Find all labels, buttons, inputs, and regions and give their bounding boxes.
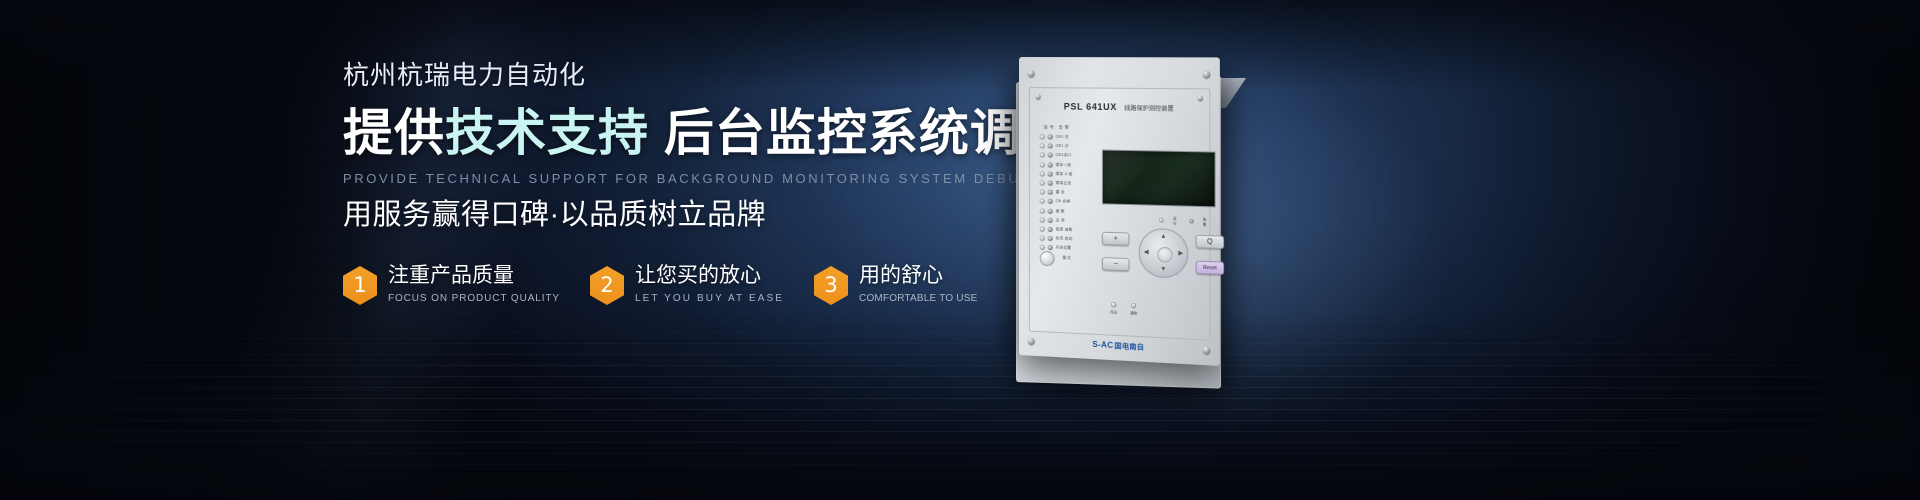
- alarm-led: [1048, 236, 1053, 241]
- arrow-left-icon[interactable]: ◀: [1144, 249, 1149, 255]
- brand-mark: S-AC: [1092, 340, 1113, 350]
- led-label: 失灵 启动: [1056, 236, 1073, 242]
- panel-screw-top-left: [1028, 70, 1035, 77]
- feature-title-2: 让您买的放心: [635, 265, 784, 286]
- direction-pad[interactable]: ▲ ▼ ◀ ▶: [1139, 228, 1189, 279]
- feature-text-1: 注重产品质量 FOCUS ON PRODUCT QUALITY: [388, 264, 560, 304]
- status-led: [1040, 153, 1045, 158]
- company-name: 杭州杭瑞电力自动化: [343, 62, 983, 88]
- feature-subtitle-1: FOCUS ON PRODUCT QUALITY: [388, 294, 560, 304]
- lcd-screen: [1102, 150, 1216, 208]
- feature-text-3: 用的舒心 COMFORTABLE TO USE: [859, 264, 977, 304]
- led-label: CB 合闸: [1056, 199, 1071, 204]
- headline-english-subtitle: PROVIDE TECHNICAL SUPPORT FOR BACKGROUND…: [343, 172, 983, 185]
- feature-list: 1 注重产品质量 FOCUS ON PRODUCT QUALITY 2 让您买的…: [343, 264, 983, 305]
- minus-key[interactable]: −: [1102, 257, 1130, 271]
- led-label: 开关位置: [1056, 246, 1072, 252]
- alarm-led: [1048, 153, 1053, 158]
- led-column-header: 信号 告警: [1044, 124, 1096, 131]
- alarm-led: [1048, 227, 1053, 232]
- led-label: CB1出口: [1056, 153, 1072, 158]
- hexagon-icon: 2: [590, 266, 624, 305]
- arrow-up-icon[interactable]: ▲: [1160, 234, 1166, 240]
- alarm-led: [1048, 181, 1053, 186]
- status-led: [1040, 190, 1045, 195]
- device-brand-logo: S-AC国电南自: [1030, 337, 1209, 357]
- alarm-led: [1048, 135, 1053, 140]
- feature-number-1: 1: [353, 275, 366, 296]
- status-led: [1040, 208, 1045, 213]
- banner-copy: 杭州杭瑞电力自动化 提供技术支持 后台监控系统调试 PROVIDE TECHNI…: [343, 62, 983, 305]
- led-label: 重 合: [1056, 190, 1065, 195]
- led-label: 低周 减载: [1056, 227, 1073, 233]
- status-led: [1040, 162, 1045, 167]
- led-label: 零序 I 段: [1056, 162, 1072, 167]
- plus-key[interactable]: +: [1102, 232, 1130, 246]
- feature-title-3: 用的舒心: [859, 265, 977, 286]
- headline-part-1: 提供: [343, 105, 445, 161]
- hexagon-icon: 1: [343, 266, 377, 305]
- feature-text-2: 让您买的放心 LET YOU BUY AT EASE: [635, 264, 784, 304]
- panel-screw-top-right: [1203, 71, 1210, 78]
- feature-number-3: 3: [824, 275, 837, 296]
- quit-key[interactable]: Q: [1196, 235, 1224, 249]
- reset-button-label: 复 位: [1063, 255, 1071, 260]
- hexagon-icon: 3: [814, 266, 848, 305]
- device-model-code: PSL 641UX: [1064, 101, 1117, 112]
- arrow-right-icon[interactable]: ▶: [1178, 251, 1183, 257]
- feature-item-1[interactable]: 1 注重产品质量 FOCUS ON PRODUCT QUALITY: [343, 264, 560, 305]
- comm-led-label: 通信: [1130, 310, 1137, 315]
- feature-subtitle-2: LET YOU BUY AT EASE: [635, 294, 784, 304]
- led-label: 速 断: [1056, 209, 1065, 214]
- headline: 提供技术支持 后台监控系统调试: [343, 108, 983, 158]
- alarm-led: [1048, 218, 1053, 223]
- alarm-led: [1189, 219, 1193, 224]
- bottom-led-unit: 通信: [1130, 303, 1137, 315]
- alarm-led: [1048, 208, 1053, 213]
- reset-button-row[interactable]: 复 位: [1040, 252, 1096, 263]
- alarm-led: [1048, 199, 1053, 204]
- feature-title-1: 注重产品质量: [388, 265, 560, 286]
- hexagon-badge-2: 2: [590, 266, 624, 305]
- status-led: [1040, 171, 1045, 176]
- led-label: 零序 II 段: [1056, 172, 1073, 177]
- bottom-led-unit: 开出: [1110, 302, 1117, 314]
- status-led: [1040, 245, 1045, 250]
- inner-screw-left: [1036, 94, 1041, 99]
- status-led: [1040, 144, 1045, 149]
- alarm-led: [1048, 162, 1053, 167]
- feature-subtitle-3: COMFORTABLE TO USE: [859, 294, 977, 304]
- feature-item-3[interactable]: 3 用的舒心 COMFORTABLE TO USE: [814, 264, 977, 305]
- comm-led: [1131, 303, 1136, 308]
- alarm-led: [1048, 245, 1053, 250]
- device-front-panel: PSL 641UX线路保护测控装置 信号 告警 CB1 合 CB1 分 CB1出…: [1019, 57, 1220, 366]
- led-label: 零序过流: [1056, 181, 1072, 186]
- status-led: [1040, 227, 1045, 232]
- feature-number-2: 2: [600, 275, 613, 296]
- hexagon-badge-3: 3: [814, 266, 848, 305]
- status-led: [1040, 181, 1045, 186]
- reset-round-button[interactable]: [1040, 251, 1055, 267]
- promo-banner: 杭州杭瑞电力自动化 提供技术支持 后台监控系统调试 PROVIDE TECHNI…: [0, 0, 1920, 500]
- alarm-led-label: 告警: [1203, 216, 1210, 227]
- status-led: [1040, 199, 1045, 204]
- headline-part-2-accent: 技术支持: [445, 105, 649, 161]
- run-led: [1159, 218, 1163, 223]
- device-model-label: PSL 641UX线路保护测控装置: [1030, 101, 1209, 113]
- device-model-chinese: 线路保护测控装置: [1124, 106, 1173, 113]
- led-label: 过 流: [1056, 218, 1065, 223]
- output-led: [1111, 302, 1116, 307]
- tagline: 用服务赢得口碑·以品质树立品牌: [343, 201, 983, 230]
- alarm-led: [1048, 171, 1053, 176]
- hexagon-badge-1: 1: [343, 266, 377, 305]
- led-label: CB1 分: [1056, 144, 1069, 149]
- alarm-led: [1048, 144, 1053, 149]
- status-led: [1040, 236, 1045, 241]
- bottom-led-group: 开出 通信: [1110, 302, 1137, 315]
- led-indicator-column: 信号 告警 CB1 合 CB1 分 CB1出口 零序 I 段 零序 II 段 零…: [1040, 124, 1096, 263]
- run-led-label: 运行: [1173, 216, 1180, 226]
- device-inner-panel: PSL 641UX线路保护测控装置 信号 告警 CB1 合 CB1 分 CB1出…: [1029, 87, 1211, 341]
- alarm-led: [1048, 190, 1053, 195]
- brand-name-chinese: 国电南自: [1114, 343, 1144, 352]
- keypad[interactable]: + − Q Reset ▲ ▼ ◀ ▶: [1102, 229, 1224, 295]
- status-led: [1040, 217, 1045, 222]
- feature-item-2[interactable]: 2 让您买的放心 LET YOU BUY AT EASE: [590, 264, 784, 305]
- status-led: [1040, 134, 1045, 139]
- lcd-glass-reflection: [1103, 151, 1215, 207]
- led-label: CB1 合: [1056, 135, 1069, 140]
- inner-screw-right: [1198, 96, 1203, 101]
- output-led-label: 开出: [1110, 309, 1117, 314]
- status-led-group: 运行 告警: [1159, 215, 1209, 227]
- reset-key[interactable]: Reset: [1196, 261, 1224, 276]
- arrow-down-icon[interactable]: ▼: [1160, 266, 1166, 272]
- dpad-center[interactable]: [1157, 246, 1173, 262]
